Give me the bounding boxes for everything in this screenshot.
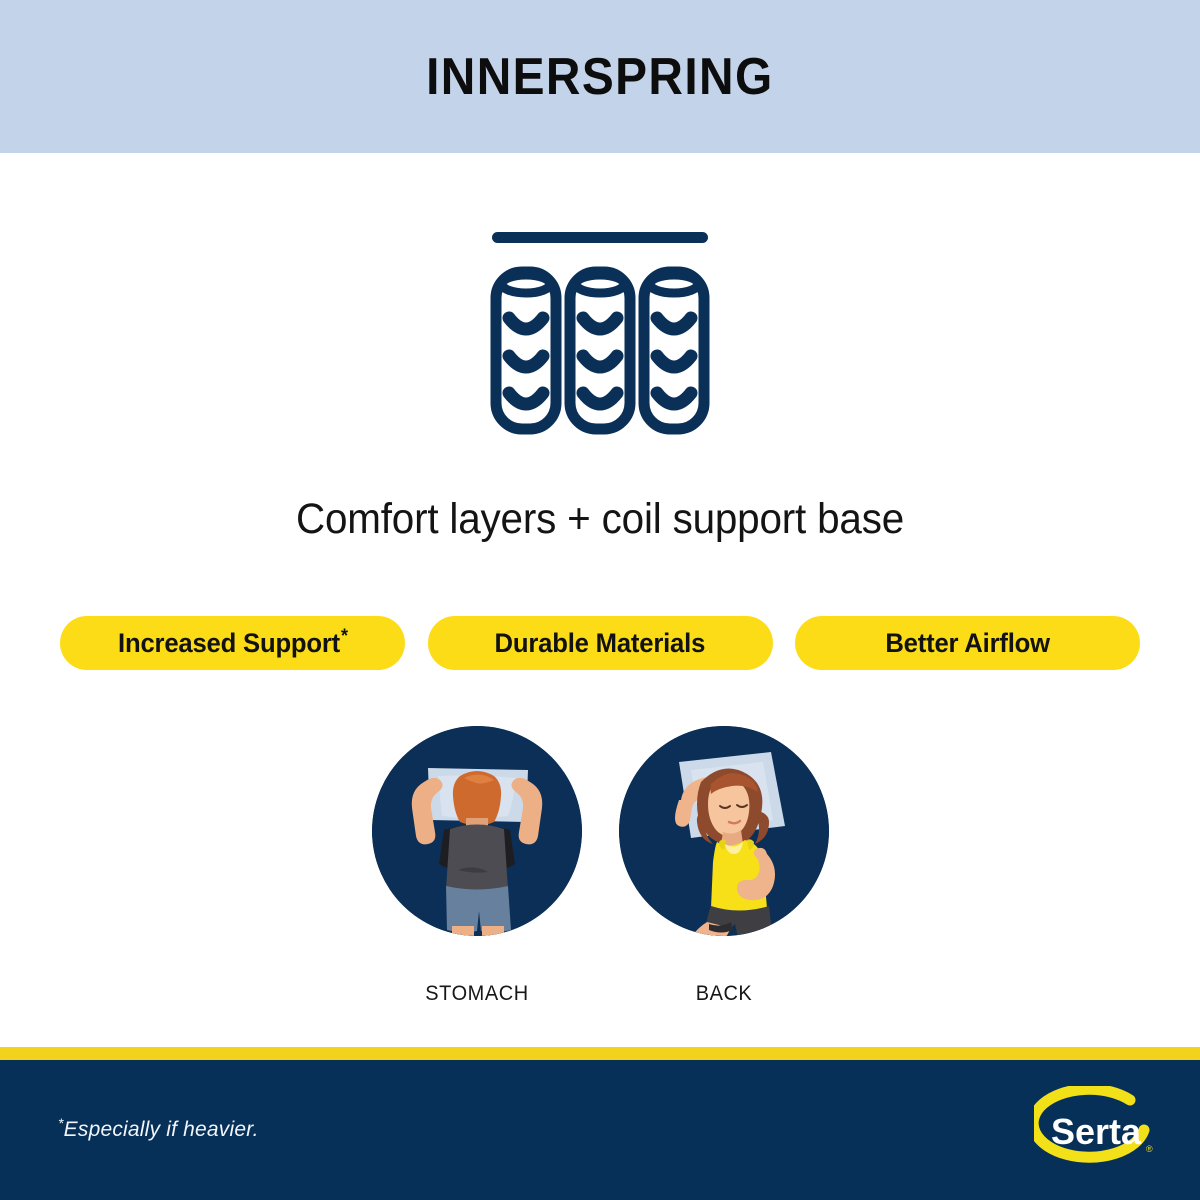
registered-mark: ® xyxy=(1146,1144,1153,1154)
coil-icon-container xyxy=(0,215,1200,455)
sleep-position-stomach[interactable]: STOMACH xyxy=(372,726,582,1006)
benefit-pill-increased-support[interactable]: Increased Support* xyxy=(60,616,405,670)
benefit-label: Durable Materials xyxy=(495,628,706,658)
stomach-sleeper-illustration xyxy=(372,726,582,936)
benefit-label: Better Airflow xyxy=(885,628,1050,658)
back-sleeper-circle xyxy=(619,726,829,936)
sleep-positions-row: STOMACH xyxy=(0,726,1200,1006)
header-banner: INNERSPRING xyxy=(0,0,1200,153)
benefit-label: Increased Support xyxy=(118,628,340,658)
sleep-position-label: STOMACH xyxy=(377,982,577,1006)
page-title: INNERSPRING xyxy=(426,47,773,107)
footer-accent-stripe xyxy=(0,1047,1200,1060)
footnote-marker-icon: * xyxy=(341,626,348,647)
benefit-pill-durable-materials[interactable]: Durable Materials xyxy=(428,616,773,670)
sleep-position-label: BACK xyxy=(624,982,824,1006)
benefits-row: Increased Support* Durable Materials Bet… xyxy=(60,616,1140,670)
benefit-pill-better-airflow[interactable]: Better Airflow xyxy=(795,616,1140,670)
back-sleeper-illustration xyxy=(619,726,829,936)
infographic-page: INNERSPRING xyxy=(0,0,1200,1200)
serta-logo[interactable]: Serta ® xyxy=(1034,1086,1164,1178)
stomach-sleeper-circle xyxy=(372,726,582,936)
footnote-text: *Especially if heavier. xyxy=(58,1118,259,1142)
footnote-body: Especially if heavier. xyxy=(64,1118,259,1141)
serta-wordmark: Serta xyxy=(1051,1111,1142,1152)
sleep-position-back[interactable]: BACK xyxy=(619,726,829,1006)
serta-logo-mark: Serta ® xyxy=(1034,1086,1164,1178)
coil-springs-icon xyxy=(485,228,715,443)
subtitle-text: Comfort layers + coil support base xyxy=(36,495,1164,544)
